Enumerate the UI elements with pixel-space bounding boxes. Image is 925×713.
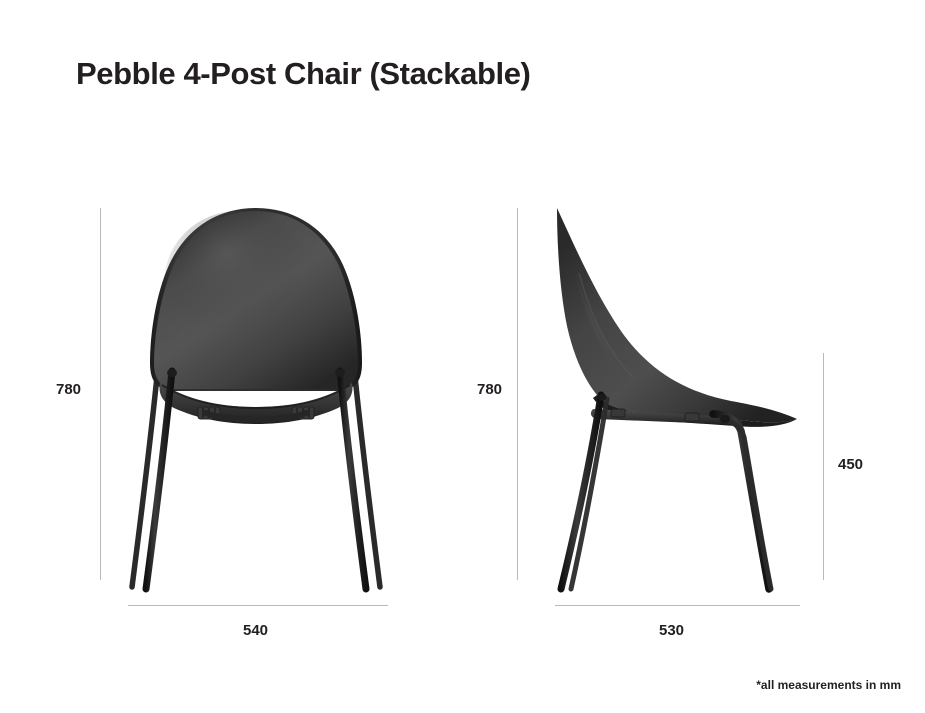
dimension-label-front-width: 540 [243, 622, 268, 639]
dimension-line-front-width [128, 605, 388, 606]
measurement-units-footnote: *all measurements in mm [756, 678, 901, 692]
dimension-label-seat-height: 450 [838, 456, 863, 473]
side-elevation-drawing [535, 195, 825, 595]
dimension-line-side-height [517, 208, 518, 580]
dimension-line-seat-height [823, 353, 824, 580]
dimension-line-front-height [100, 208, 101, 580]
front-shell-highlight [164, 211, 312, 355]
page-title: Pebble 4-Post Chair (Stackable) [76, 56, 530, 92]
product-spec-sheet: Pebble 4-Post Chair (Stackable) [0, 0, 925, 713]
dimension-line-side-depth [555, 605, 800, 606]
dimension-label-front-height: 780 [56, 381, 81, 398]
side-far-legs [571, 399, 771, 589]
dimension-label-side-height: 780 [477, 381, 502, 398]
front-elevation-drawing [110, 195, 410, 595]
side-front-leg [713, 414, 769, 589]
side-rear-leg [561, 395, 601, 589]
dimension-label-side-depth: 530 [659, 622, 684, 639]
